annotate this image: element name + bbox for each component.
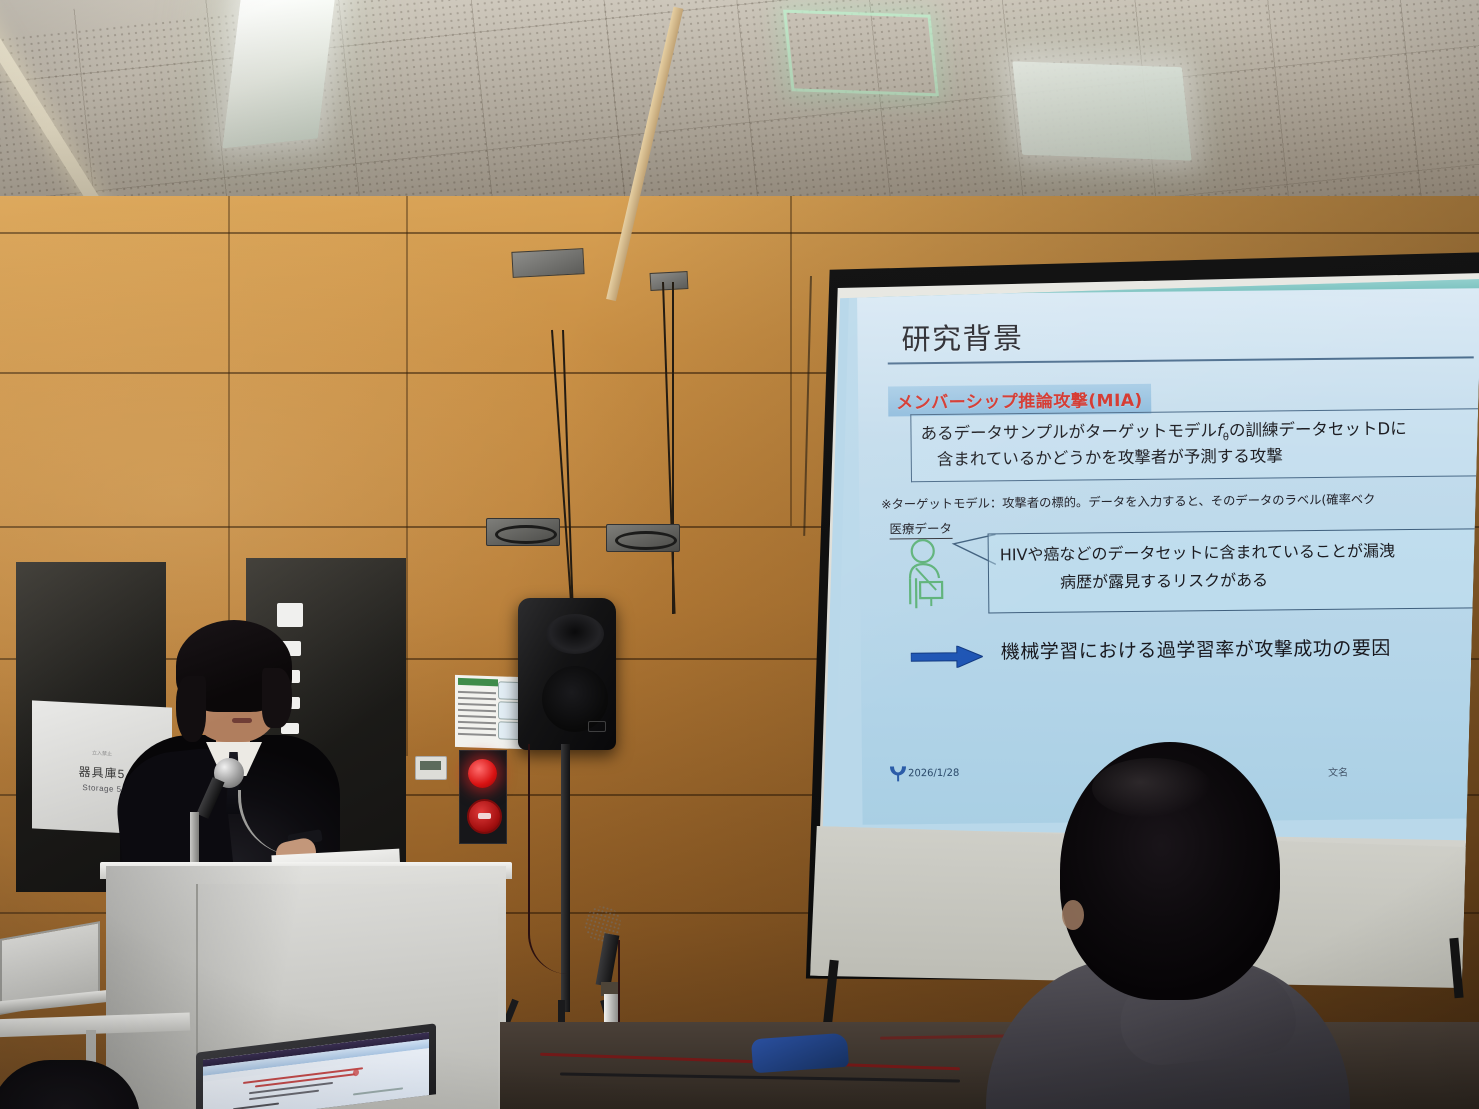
poster-diagram [498, 681, 520, 700]
speaker-horn-driver [546, 614, 604, 654]
risk-callout-line-1: HIVや癌などのデータセットに含まれていることが漏洩 [1000, 537, 1395, 565]
ceiling-rigging-plate-right [650, 271, 689, 291]
slide-footer-right-text: 文名 [1328, 764, 1348, 779]
presenter-mouth [232, 718, 252, 723]
poster-diagram [498, 701, 520, 720]
alarm-bell-icon [467, 799, 502, 834]
slide-footer-date: 2026/1/28 [908, 768, 959, 780]
risk-callout-line-2: 病歴が露見するリスクがある [1060, 567, 1268, 593]
wall-speaker-mount-left [486, 518, 560, 546]
wall-thermostat[interactable] [415, 756, 447, 780]
definition-line-1: あるデータサンプルがターゲットモデルfθの訓練データセットDに [920, 415, 1406, 446]
presenter-hair-side [176, 676, 206, 742]
poster-diagram [498, 721, 520, 740]
alarm-lamp-icon [468, 759, 497, 788]
speaker-cable [528, 744, 570, 974]
evacuation-poster [455, 675, 523, 749]
laptop-center[interactable] [196, 1038, 436, 1109]
definition-line-1-post: の訓練データセットDに [1229, 419, 1407, 440]
blue-arrow-icon [911, 646, 983, 669]
equipment-bag [751, 1033, 849, 1074]
audience-hair-highlight [1092, 758, 1212, 818]
ceiling-rigging-plate-left [511, 248, 584, 278]
browser-page-icon [353, 1069, 359, 1077]
poster-header-band [458, 678, 498, 686]
definition-line-2: 含まれているかどうかを攻撃者が予測する攻撃 [937, 442, 1283, 470]
pa-speaker [518, 598, 616, 750]
slide-title: 研究背景 [901, 315, 1023, 358]
presentation-room-photo: 立入禁止 器具庫5 Storage 5 [0, 0, 1479, 1109]
patient-with-sling-icon [896, 538, 959, 617]
speaker-brand-badge [588, 721, 606, 732]
wall-speaker-mount-right [606, 524, 680, 552]
presenter-hair-side [262, 668, 292, 728]
audience-ear [1062, 900, 1084, 930]
target-model-note: ※ターゲットモデル：攻撃者の標的。データを入力すると、そのデータのラベル(確率ベ… [881, 489, 1375, 512]
definition-line-1-pre: あるデータサンプルがターゲットモデル [920, 421, 1217, 443]
slide-section-heading: メンバーシップ推論攻撃(MIA) [896, 391, 1143, 414]
university-logo-icon [888, 764, 908, 782]
audience-member-front [1000, 742, 1330, 1109]
suspension-wire [672, 282, 674, 614]
slide-conclusion: 機械学習における過学習率が攻撃成功の要因 [1001, 633, 1391, 664]
laptop-left[interactable] [0, 930, 96, 1016]
medical-data-label: 医療データ [889, 518, 952, 540]
fire-alarm-panel[interactable] [459, 750, 507, 844]
